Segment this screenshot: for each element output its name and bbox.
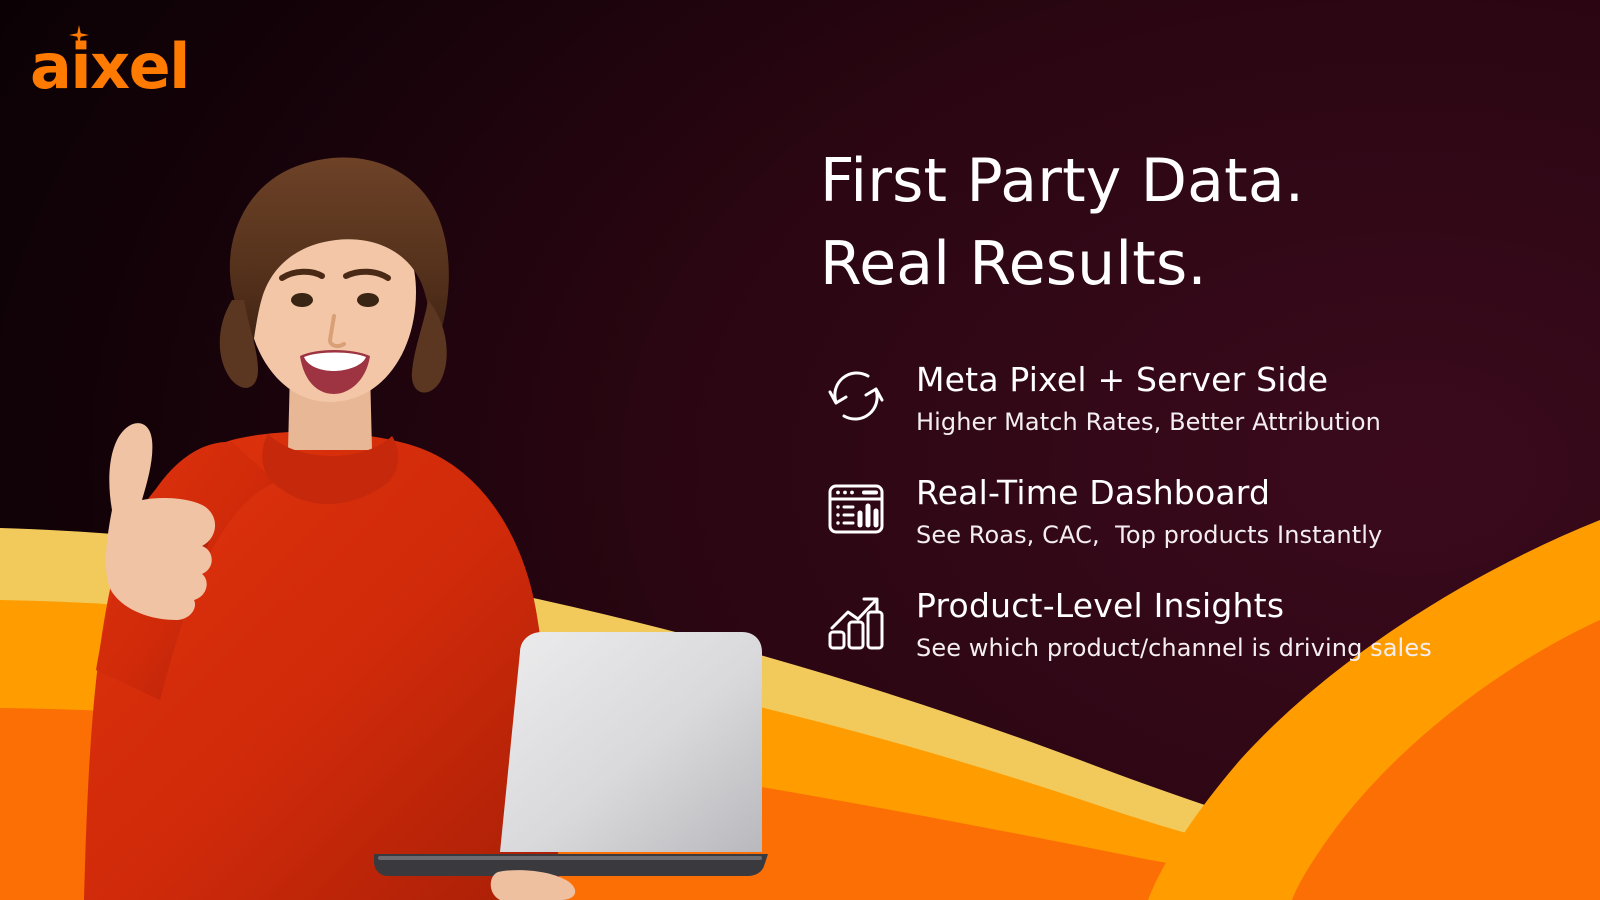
feature-title: Meta Pixel + Server Side	[916, 360, 1381, 400]
sparkle-star-icon	[69, 25, 89, 45]
feature-title: Real-Time Dashboard	[916, 473, 1382, 513]
promo-banner: aixel	[0, 0, 1600, 900]
eye-right	[357, 293, 379, 307]
brand-name: aixel	[30, 36, 189, 98]
feature-body: Real-Time Dashboard See Roas, CAC, Top p…	[916, 471, 1382, 552]
headline-line-2: Real Results.	[820, 223, 1560, 306]
brand-logo[interactable]: aixel	[30, 36, 189, 98]
laptop-base-highlight	[378, 856, 762, 860]
sync-circular-arrows-icon	[820, 360, 892, 432]
feature-body: Meta Pixel + Server Side Higher Match Ra…	[916, 358, 1381, 439]
dashboard-window-chart-icon	[820, 473, 892, 545]
feature-subtitle: See which product/channel is driving sal…	[916, 632, 1432, 664]
page-title: First Party Data. Real Results.	[820, 140, 1560, 306]
feature-list: Meta Pixel + Server Side Higher Match Ra…	[820, 358, 1560, 665]
content-column: First Party Data. Real Results. Meta Pix…	[820, 140, 1560, 665]
laptop-lid	[500, 632, 762, 852]
feature-subtitle: See Roas, CAC, Top products Instantly	[916, 519, 1382, 551]
feature-subtitle: Higher Match Rates, Better Attribution	[916, 406, 1381, 438]
feature-body: Product-Level Insights See which product…	[916, 584, 1432, 665]
bar-chart-trending-up-icon	[820, 586, 892, 658]
feature-item-realtime-dashboard: Real-Time Dashboard See Roas, CAC, Top p…	[820, 471, 1560, 552]
headline-line-1: First Party Data.	[820, 140, 1560, 223]
hero-photo-woman-with-laptop	[0, 140, 800, 900]
eye-left	[291, 293, 313, 307]
feature-item-product-insights: Product-Level Insights See which product…	[820, 584, 1560, 665]
feature-title: Product-Level Insights	[916, 586, 1432, 626]
feature-item-meta-pixel: Meta Pixel + Server Side Higher Match Ra…	[820, 358, 1560, 439]
